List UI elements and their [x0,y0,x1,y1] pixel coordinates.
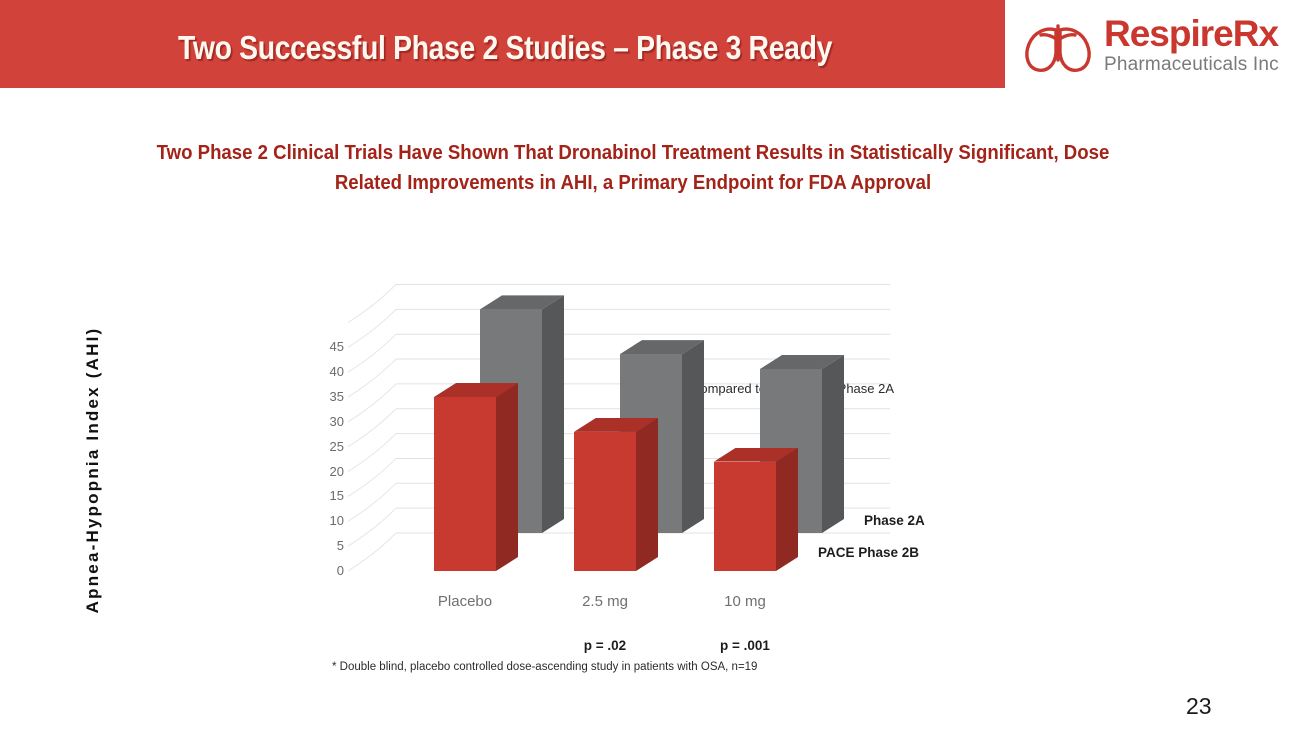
bar-pace-phase-2b-2 [714,448,798,571]
plot-area: ** p<.02, compared to placebo for Phase … [352,295,892,585]
y-tick-0: 0 [337,565,344,577]
y-tick-30: 30 [330,416,344,428]
p-value-label-1: p = .02 [556,638,654,653]
bar-side-face [776,448,798,571]
footnote: * Double blind, placebo controlled dose-… [332,661,757,673]
bar-pace-phase-2b-1 [574,418,658,571]
y-tick-35: 35 [330,391,344,403]
bar-side-face [822,355,844,533]
x-axis-label-0: Placebo [416,593,514,610]
legend-item-pace-phase-2b: PACE Phase 2B [818,545,919,560]
bar-front-face [574,432,636,571]
y-tick-45: 45 [330,341,344,353]
y-tick-5: 5 [337,540,344,552]
x-axis-label-1: 2.5 mg [556,593,654,610]
bar-side-face [542,295,564,533]
bar-side-face [682,340,704,533]
bar-group [352,295,892,585]
logo-text: RespireRx Pharmaceuticals Inc [1104,14,1315,76]
y-axis-title: Apnea-Hypopnia Index (AHI) [83,315,103,625]
y-tick-15: 15 [330,490,344,502]
logo-name: RespireRx [1104,14,1315,54]
page-title: Two Successful Phase 2 Studies – Phase 3… [178,26,875,74]
y-tick-25: 25 [330,441,344,453]
legend-item-phase-2a: Phase 2A [864,513,925,528]
bar-pace-phase-2b-0 [434,383,518,571]
lungs-icon [1020,20,1098,78]
slide: Two Successful Phase 2 Studies – Phase 3… [0,0,1315,739]
logo: RespireRx Pharmaceuticals Inc [1012,8,1315,90]
bar-front-face [714,462,776,571]
x-axis-label-2: 10 mg [696,593,794,610]
page-number: 23 [1186,693,1212,720]
bar-side-face [496,383,518,571]
p-value-label-2: p = .001 [696,638,794,653]
y-tick-40: 40 [330,366,344,378]
y-tick-20: 20 [330,466,344,478]
logo-subtitle: Pharmaceuticals Inc [1104,54,1315,76]
bar-side-face [636,418,658,571]
bar-front-face [434,397,496,571]
y-tick-10: 10 [330,515,344,527]
slide-subtitle: Two Phase 2 Clinical Trials Have Shown T… [145,138,1122,198]
chart: Apnea-Hypopnia Index (AHI) ** p<.02, com… [0,255,1315,695]
